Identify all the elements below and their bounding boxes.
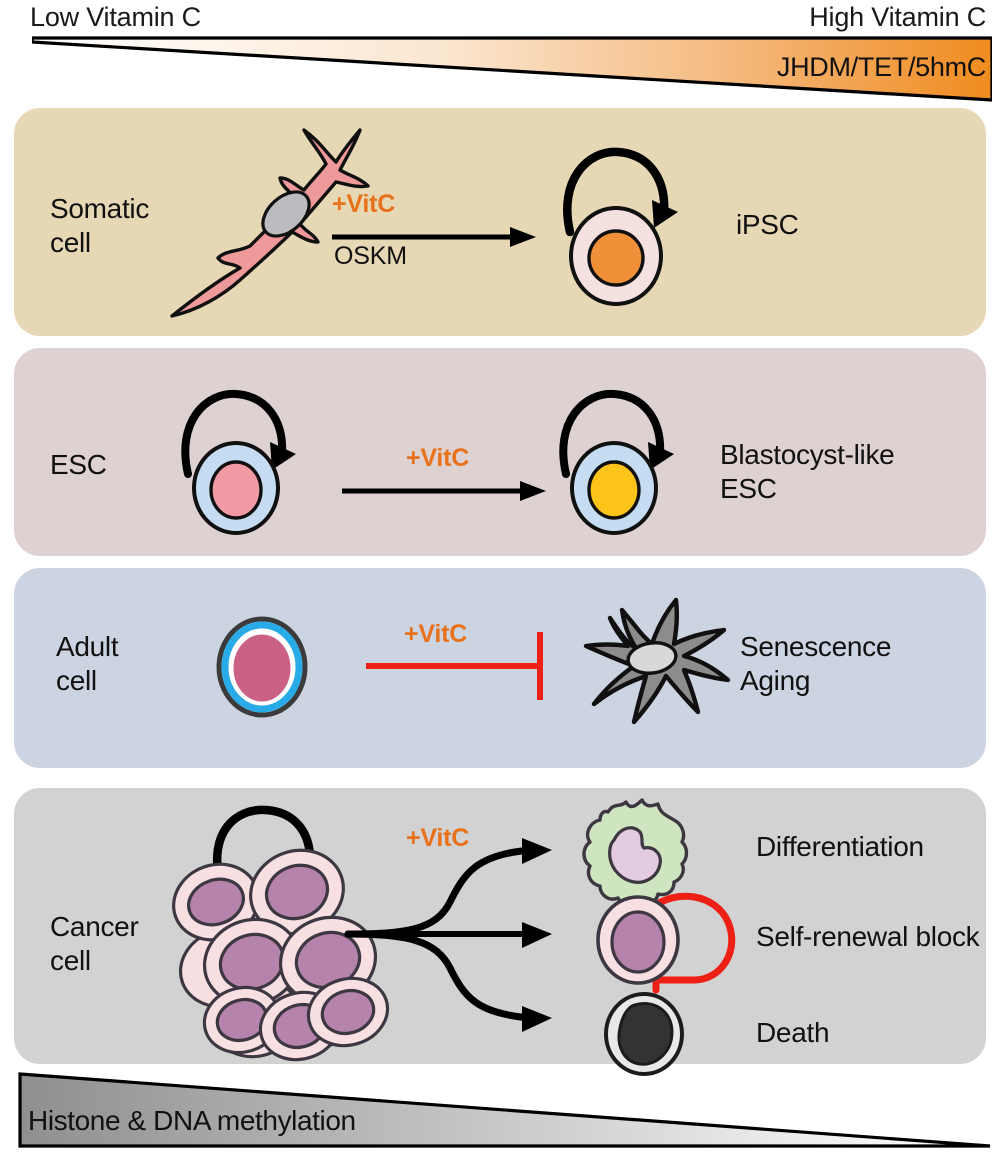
esc-cell-icon xyxy=(166,378,316,538)
panel-adult-source-label: Adult cell xyxy=(56,630,118,697)
senescent-cell-icon xyxy=(566,582,756,752)
adult-cell-icon xyxy=(200,602,330,732)
panel-adult-inhibition-arrow xyxy=(366,626,556,706)
panel-esc-source-label: ESC xyxy=(50,448,107,481)
high-vitamin-c-label: High Vitamin C xyxy=(809,2,986,33)
panel-esc-vitc-label: +VitC xyxy=(406,444,469,473)
enzyme-label: JHDM/TET/5hmC xyxy=(777,52,986,83)
somatic-cell-icon xyxy=(154,116,394,326)
panel-esc: ESC +VitC xyxy=(14,348,986,556)
outcome-differentiation-label: Differentiation xyxy=(756,830,924,863)
low-vitamin-c-label: Low Vitamin C xyxy=(30,2,201,33)
panel-esc-arrow xyxy=(342,478,548,504)
panel-ipsc-oskm-label: OSKM xyxy=(334,242,407,271)
figure-canvas: Low Vitamin C High Vitamin C JHDM/TET/5h… xyxy=(0,0,1000,1154)
panel-cancer: Cancer cell xyxy=(14,788,986,1064)
outcome-death-label: Death xyxy=(756,1016,829,1049)
ipsc-cell-icon xyxy=(544,130,694,315)
header-labels: Low Vitamin C High Vitamin C xyxy=(0,0,1000,34)
panel-adult-target-label: Senescence Aging xyxy=(740,630,891,697)
panel-ipsc-source-label: Somatic cell xyxy=(50,192,149,259)
cancer-branch-arrows xyxy=(346,810,576,1050)
panel-adult: Adult cell +VitC Senescence xyxy=(14,568,986,768)
blastocyst-esc-cell-icon xyxy=(544,378,694,538)
self-renewal-block-icon xyxy=(590,880,750,1002)
panel-ipsc-vitc-label: +VitC xyxy=(332,190,395,219)
panel-cancer-source-label: Cancer cell xyxy=(50,910,138,977)
panel-esc-target-label: Blastocyst-like ESC xyxy=(720,438,894,505)
methylation-label: Histone & DNA methylation xyxy=(28,1105,356,1137)
dead-cell-icon xyxy=(594,988,704,1080)
outcome-self-renewal-block-label: Self-renewal block xyxy=(756,920,979,953)
panel-ipsc: Somatic cell +VitC OSKM xyxy=(14,108,986,336)
panel-ipsc-target-label: iPSC xyxy=(736,208,799,241)
